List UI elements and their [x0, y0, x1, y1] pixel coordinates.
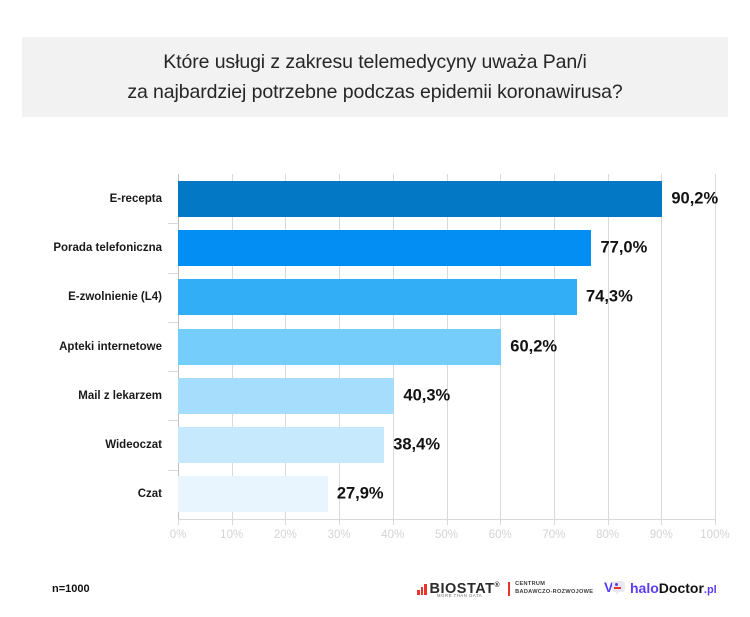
bar-value-label: 77,0%: [600, 238, 647, 257]
bar-value-label: 40,3%: [403, 386, 450, 405]
halodoctor-part-doctor: Doctor: [659, 580, 704, 596]
bar-chart: E-receptaPorada telefonicznaE-zwolnienie…: [0, 150, 750, 550]
axis-tick: [608, 519, 609, 525]
axis-tick-label: 20%: [274, 529, 297, 541]
category-tick: [168, 470, 178, 471]
biostat-logo: BIOSTAT® MORE THAN DATA CENTRUM BADAWCZO…: [417, 578, 593, 600]
axis-tick: [715, 519, 716, 525]
bar-value-label: 60,2%: [510, 337, 557, 356]
category-tick: [168, 273, 178, 274]
bar[interactable]: [178, 427, 384, 463]
halodoctor-logo: V haloDoctor.pl: [604, 577, 717, 599]
biostat-registered-mark: ®: [494, 582, 500, 589]
axis-tick: [447, 519, 448, 525]
gridline: [608, 174, 609, 519]
halodoctor-dash: [614, 587, 621, 589]
halodoctor-part-halo: halo: [630, 580, 659, 596]
category-axis: E-receptaPorada telefonicznaE-zwolnienie…: [0, 174, 170, 519]
biostat-subtitle: MORE THAN DATA: [437, 593, 482, 598]
bar[interactable]: [178, 181, 662, 217]
halodoctor-wordmark: haloDoctor.pl: [630, 581, 717, 596]
bar[interactable]: [178, 230, 591, 266]
axis-tick-label: 80%: [596, 529, 619, 541]
biostat-tagline: CENTRUM BADAWCZO-ROZWOJOWE: [515, 581, 593, 596]
halodoctor-part-tld: .pl: [704, 584, 717, 596]
page-title: Które usługi z zakresu telemedycyny uważ…: [127, 47, 622, 107]
halodoctor-dot: [615, 583, 618, 586]
chart-title-band: Które usługi z zakresu telemedycyny uważ…: [22, 37, 728, 117]
halodoctor-speech-bubble-icon: V: [604, 579, 626, 597]
category-tick: [168, 420, 178, 421]
category-label: Apteki internetowe: [2, 341, 162, 353]
bar-value-label: 74,3%: [586, 288, 633, 307]
axis-tick-label: 0%: [170, 529, 187, 541]
axis-tick-label: 30%: [328, 529, 351, 541]
category-tick: [168, 371, 178, 372]
biostat-tagline-line2: BADAWCZO-ROZWOJOWE: [515, 589, 593, 595]
bar[interactable]: [178, 476, 328, 512]
axis-tick: [232, 519, 233, 525]
category-label: Porada telefoniczna: [2, 242, 162, 254]
axis-tick-label: 100%: [700, 529, 729, 541]
axis-tick: [393, 519, 394, 525]
category-tick: [168, 223, 178, 224]
bar[interactable]: [178, 329, 501, 365]
category-label: E-recepta: [2, 193, 162, 205]
bar-value-label: 90,2%: [671, 189, 718, 208]
bar[interactable]: [178, 378, 394, 414]
sample-size-label: n=1000: [52, 583, 90, 595]
category-tick: [168, 322, 178, 323]
gridline: [715, 174, 716, 519]
category-label: E-zwolnienie (L4): [2, 291, 162, 303]
category-label: Mail z lekarzem: [2, 390, 162, 402]
axis-tick-label: 10%: [220, 529, 243, 541]
bar[interactable]: [178, 279, 577, 315]
biostat-divider: [508, 582, 510, 596]
plot-area: 90,2%77,0%74,3%60,2%40,3%38,4%27,9%: [178, 174, 715, 519]
axis-tick: [178, 519, 179, 525]
axis-tick: [285, 519, 286, 525]
biostat-bars-icon: [417, 584, 427, 595]
biostat-tagline-line1: CENTRUM: [515, 581, 545, 587]
bar-value-label: 38,4%: [393, 436, 440, 455]
axis-tick-label: 70%: [542, 529, 565, 541]
category-label: Wideoczat: [2, 439, 162, 451]
axis-tick: [339, 519, 340, 525]
gridline: [661, 174, 662, 519]
axis-tick: [500, 519, 501, 525]
axis-tick-label: 90%: [650, 529, 673, 541]
axis-tick-label: 40%: [381, 529, 404, 541]
category-label: Czat: [2, 488, 162, 500]
axis-tick-label: 60%: [489, 529, 512, 541]
axis-tick: [661, 519, 662, 525]
axis-tick-label: 50%: [435, 529, 458, 541]
bar-value-label: 27,9%: [337, 485, 384, 504]
value-axis: 0%10%20%30%40%50%60%70%80%90%100%: [178, 519, 715, 520]
axis-tick: [554, 519, 555, 525]
